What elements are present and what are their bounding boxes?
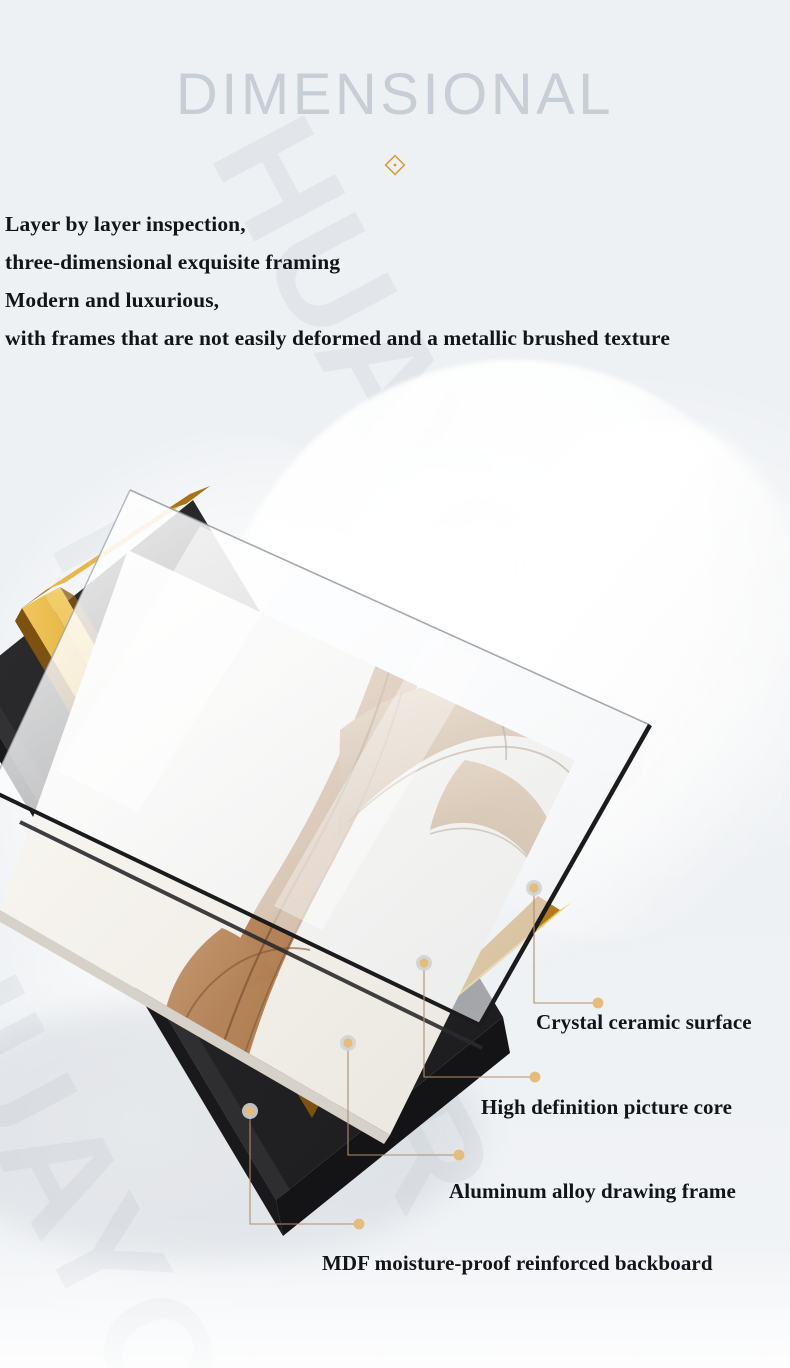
- description-line: three-dimensional exquisite framing: [5, 243, 787, 281]
- exploded-picture-frame: [0, 430, 790, 1310]
- product-illustration: [0, 430, 790, 1310]
- description-line: Modern and luxurious,: [5, 281, 787, 319]
- description-line: with frames that are not easily deformed…: [5, 319, 787, 357]
- description-line: Layer by layer inspection,: [5, 205, 787, 243]
- diamond-ornament-icon: [384, 154, 406, 176]
- page-title: DIMENSIONAL: [0, 66, 790, 124]
- page-header: DIMENSIONAL: [0, 0, 790, 176]
- description-block: Layer by layer inspection, three-dimensi…: [5, 205, 787, 357]
- ornament-wrap: [0, 154, 790, 176]
